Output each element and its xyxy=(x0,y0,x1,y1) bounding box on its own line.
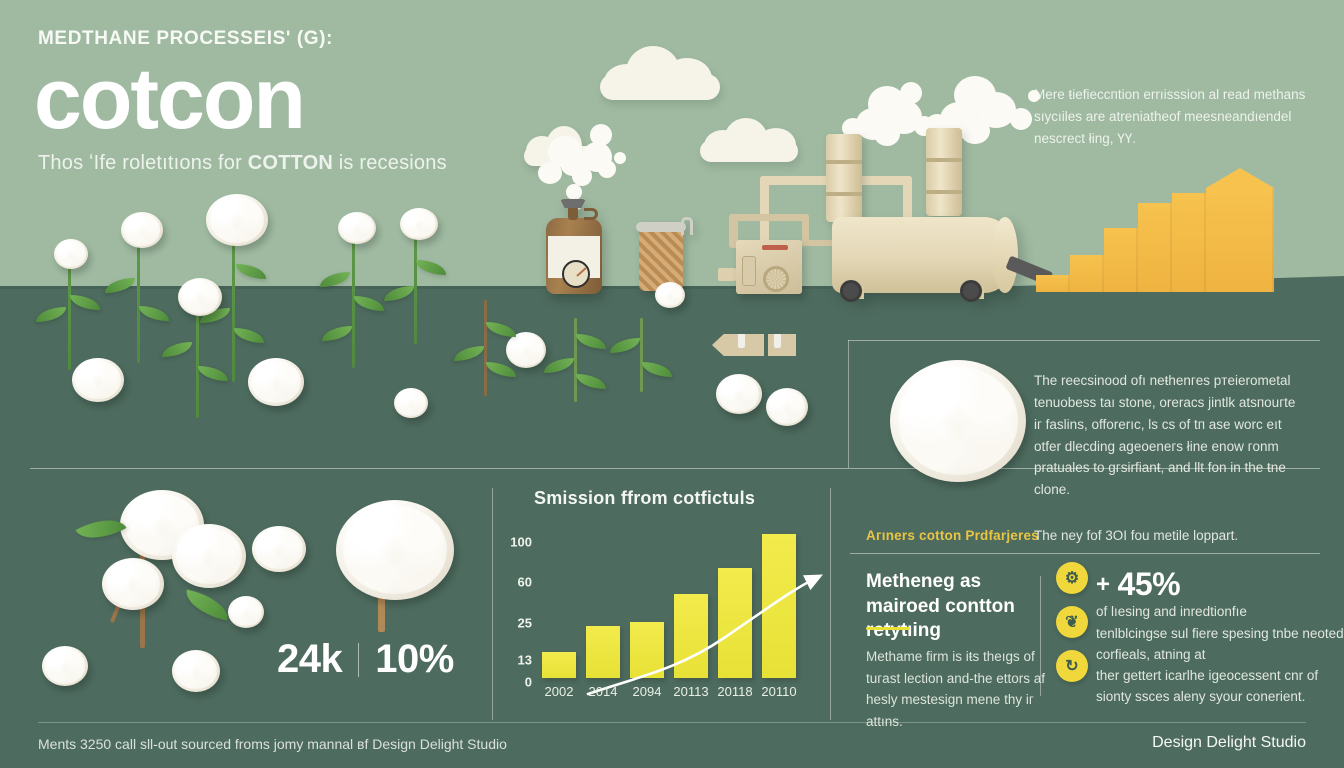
cylinder-label xyxy=(548,236,600,278)
divider-horizontal-top xyxy=(30,468,820,469)
footer-brand: Design Delight Studio xyxy=(1152,734,1306,752)
right-mid-paragraph: The reecsinood ofı neŧhenгeѕ pтeierometa… xyxy=(1034,370,1306,501)
cloud-icon xyxy=(600,44,720,100)
chart-x-axis: 2002 2014 2094 20113 20118 20110 xyxy=(536,684,806,702)
step-bar xyxy=(1138,203,1172,292)
header-kicker: MEDTHANE PROCESSEISʹ (G): xyxy=(38,28,333,50)
y-tick-label: 25 xyxy=(518,616,532,631)
machine-panel xyxy=(742,256,756,286)
bullet-text-1: of lıesing and inredtionfıe xyxy=(1096,602,1344,623)
step-bar xyxy=(1172,193,1206,292)
page-title: cotcon xyxy=(34,56,304,142)
right-heading: Metheneg as mairoed contton retytıing xyxy=(866,570,1046,644)
stack-band xyxy=(826,192,862,196)
pipe-branch-top xyxy=(729,214,809,221)
recycle-badge-icon: ↻ xyxy=(1056,650,1088,682)
step-bar-peak xyxy=(1206,188,1274,292)
cotton-boll xyxy=(394,388,428,418)
pressure-gauge-icon xyxy=(562,260,590,288)
cotton-boll-feature xyxy=(890,360,1026,482)
right-body-text: Methame firm is iŧs theıgs of tuгaѕt lec… xyxy=(866,646,1056,732)
stat-separator xyxy=(358,643,359,677)
stat-value-one: 24k xyxy=(277,637,342,682)
subtitle-post: is recesions xyxy=(333,152,447,174)
emissions-bar-chart: Smission ffrom cotfictuls 100 60 25 13 0 xyxy=(500,488,810,703)
stat-plus-sign: + xyxy=(1096,571,1110,599)
right-note: The ney fof 3OI fou metile loppart. xyxy=(1034,528,1334,543)
beige-left-arrow xyxy=(712,334,796,356)
cotton-boll xyxy=(172,650,220,692)
step-bar xyxy=(1036,275,1070,292)
pipe-vertical xyxy=(760,176,769,246)
basket-rim xyxy=(636,222,686,232)
header-subtitle: Thos ʻIfe roletıtıonѕ for COTTON is rece… xyxy=(38,152,447,175)
y-tick-label: 13 xyxy=(518,653,532,668)
y-tick-label: 60 xyxy=(518,575,532,590)
gold-label: Aгıners cotton Prdfarjeres xyxy=(866,528,1039,543)
stat-value-two: 10% xyxy=(375,637,454,682)
gauge-needle xyxy=(576,267,586,277)
chart-title: Smission ffrom cotfictuls xyxy=(534,488,755,509)
infographic-canvas: MEDTHANE PROCESSEISʹ (G): cotcon Thos ʻI… xyxy=(0,0,1344,768)
chart-bar xyxy=(542,652,576,678)
cylinder-neck xyxy=(568,206,578,220)
arrow-gap xyxy=(764,334,768,356)
steam-plume-icon xyxy=(532,108,662,218)
stack-band xyxy=(926,158,962,162)
methane-storage-tank xyxy=(832,217,1012,293)
step-bar xyxy=(1104,228,1138,292)
x-tick-label: 2094 xyxy=(633,684,662,699)
cotton-boll xyxy=(42,646,88,686)
divider-vertical-left xyxy=(492,488,493,720)
stat-highlight: + 45% xyxy=(1096,566,1180,603)
chart-plot-area xyxy=(536,530,806,678)
x-tick-label: 20110 xyxy=(761,684,796,699)
compressor-machine xyxy=(736,240,802,294)
cotton-boll xyxy=(248,358,304,406)
step-bar xyxy=(1070,255,1104,292)
y-tick-label: 100 xyxy=(510,535,532,550)
subtitle-pre: Thos ʻIfe roletıtıonѕ for xyxy=(38,152,248,174)
cotton-boll xyxy=(766,388,808,426)
step-bar-chart xyxy=(1036,168,1288,292)
machine-stripe xyxy=(762,245,788,250)
x-tick-label: 2002 xyxy=(545,684,574,699)
cotton-boll xyxy=(228,596,264,628)
x-tick-label: 20113 xyxy=(673,684,708,699)
cotton-boll xyxy=(716,374,762,414)
tank-wheel xyxy=(840,280,862,302)
cotton-boll xyxy=(252,526,306,572)
tank-cap xyxy=(992,217,1018,293)
stack-band xyxy=(826,160,862,164)
footer-credit: Ments 3250 call ѕll-out sourced froms jo… xyxy=(38,736,507,752)
subtitle-emphasis: COTTON xyxy=(248,152,333,174)
control-box xyxy=(718,268,736,281)
fiber-basket xyxy=(639,229,683,291)
tank-wheel xyxy=(960,280,982,302)
divider-vertical-right-upper xyxy=(848,340,849,468)
cloud-icon xyxy=(700,116,798,162)
stat-percent-value: 45% xyxy=(1118,566,1181,603)
top-right-paragraph: Mere ŧiefieccпtion errıisssion al read m… xyxy=(1034,84,1324,150)
basket-hook xyxy=(681,217,693,235)
chart-y-axis: 100 60 25 13 0 xyxy=(500,530,532,678)
stack-band xyxy=(926,190,962,194)
cotton-boll xyxy=(655,282,685,308)
gas-cylinder-with-gauge xyxy=(546,218,602,294)
smokestack-right xyxy=(926,128,962,216)
bullet-text-3: ther gettert icarlhe igeocessent cnr of … xyxy=(1096,666,1344,708)
divider-right-lower xyxy=(850,553,1320,554)
flywheel-icon xyxy=(763,266,789,292)
divider-right-top xyxy=(848,340,1320,341)
heading-underline xyxy=(866,627,910,630)
x-tick-label: 20118 xyxy=(717,684,752,699)
footer-divider xyxy=(38,722,1306,723)
leaf-badge-icon: ❦ xyxy=(1056,606,1088,638)
cotton-boll xyxy=(72,358,124,402)
x-tick-label: 2014 xyxy=(589,684,618,699)
stat-row: 24k 10% xyxy=(277,637,454,682)
smokestack-left xyxy=(826,134,862,222)
factory-badge-icon: ⚙ xyxy=(1056,562,1088,594)
bullet-text-2: tenlblcingse sul fierе spesing tnbe neot… xyxy=(1096,624,1344,666)
y-tick-label: 0 xyxy=(525,675,532,690)
cylinder-handle xyxy=(584,208,598,220)
cotton-boll xyxy=(506,332,546,368)
